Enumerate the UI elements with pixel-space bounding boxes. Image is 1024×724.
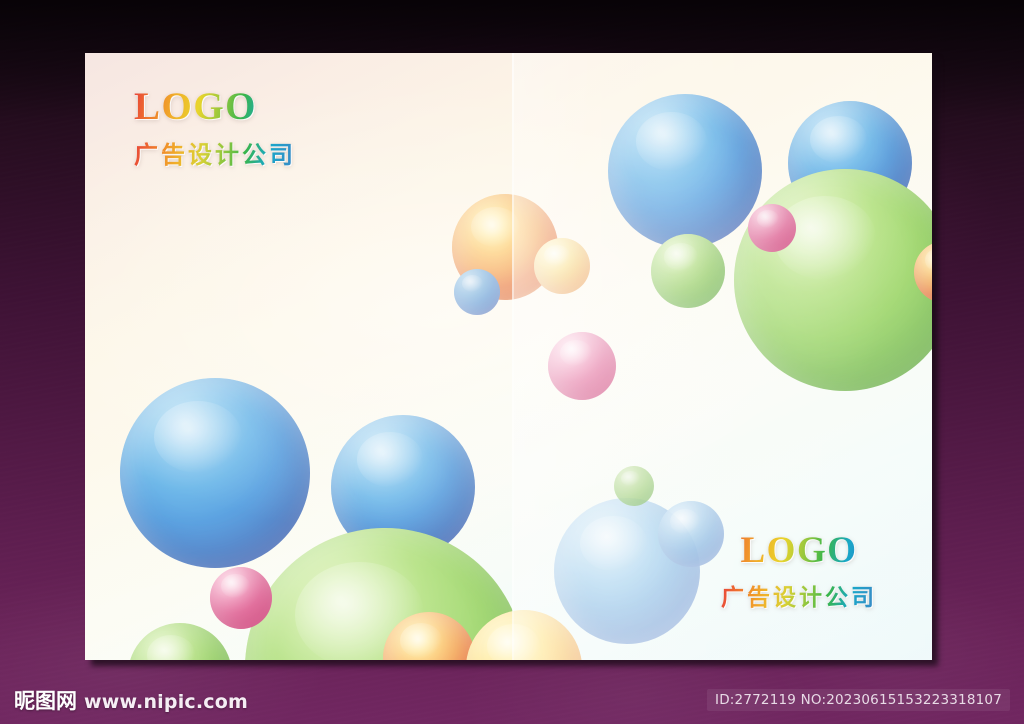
logo-top-left: LOGO 广告设计公司 [134,87,296,170]
asset-id-label: ID:2772119 NO:20230615153223318107 [707,689,1010,711]
watermark-site-url: www.nipic.com [84,691,248,713]
watermark-brand: 昵图网 www.nipic.com [14,685,248,715]
logo-company-name-cn: 广告设计公司 [721,578,877,612]
sphere-blue-sm-center-top [454,269,500,315]
brochure-artwork: LOGO 广告设计公司 LOGO 广告设计公司 [85,53,932,660]
sphere-green-md-bottom-far-left [128,623,232,660]
watermark-site-name-cn: 昵图网 [14,685,77,715]
sphere-green-sm-right [651,234,725,308]
sphere-pink-md-bottom-left [210,567,272,629]
sphere-green-xs-center [614,466,654,506]
sphere-green-xl-right [734,169,932,391]
sphere-blue-xl-top-right [608,94,762,248]
logo-bottom-right: LOGO 广告设计公司 [721,532,877,612]
logo-company-name-cn: 广告设计公司 [134,135,296,170]
screenshot-canvas: LOGO 广告设计公司 LOGO 广告设计公司 昵图网 www.nipic.co… [0,0,1024,724]
sphere-pink-md-center [548,332,616,400]
brochure-cover: LOGO 广告设计公司 LOGO 广告设计公司 [85,53,932,660]
sphere-blue-xl-left [120,378,310,568]
sphere-yellow-sm-center-top [534,238,590,294]
sphere-pink-sm-right [748,204,796,252]
logo-wordmark: LOGO [134,87,296,128]
sphere-blue-soft-sm-center [658,501,724,567]
brochure-fold-line [512,53,514,660]
watermark-footer: 昵图网 www.nipic.com ID:2772119 NO:20230615… [0,676,1024,724]
logo-wordmark: LOGO [721,532,877,571]
